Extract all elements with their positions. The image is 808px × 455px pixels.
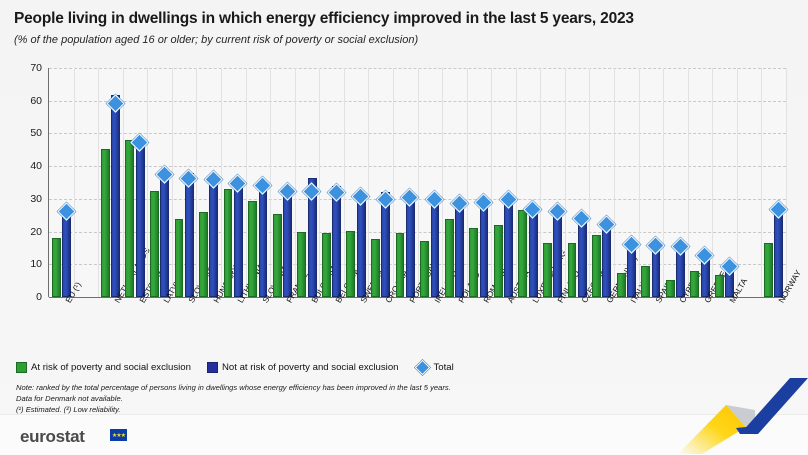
bar-not-at-risk[interactable] xyxy=(136,145,145,297)
total-marker-icon[interactable] xyxy=(376,190,394,208)
total-marker-icon[interactable] xyxy=(327,183,345,201)
bar-at-risk[interactable] xyxy=(224,189,233,297)
total-marker-icon[interactable] xyxy=(155,166,173,184)
bar-not-at-risk[interactable] xyxy=(774,206,783,297)
bar-at-risk[interactable] xyxy=(641,266,650,297)
bar-at-risk[interactable] xyxy=(764,243,773,297)
eu-flag-icon: ★★★ xyxy=(110,429,127,441)
bar-not-at-risk[interactable] xyxy=(480,201,489,298)
legend-label-not-at-risk: Not at risk of poverty and social exclus… xyxy=(222,362,399,373)
chart-page: People living in dwellings in which ener… xyxy=(0,0,808,454)
total-marker-icon[interactable] xyxy=(622,236,640,254)
eurostat-logo: eurostat xyxy=(20,427,85,447)
legend-label-total: Total xyxy=(434,362,454,373)
bar-group[interactable] xyxy=(368,68,393,297)
bar-group[interactable] xyxy=(221,68,246,297)
category-separator xyxy=(786,68,787,297)
note-line-1: Note: ranked by the total percentage of … xyxy=(16,383,451,394)
bar-not-at-risk[interactable] xyxy=(578,219,587,298)
y-tick-label-0: 0 xyxy=(36,291,42,303)
total-marker-icon[interactable] xyxy=(278,182,296,200)
bar-at-risk[interactable] xyxy=(248,201,257,297)
bar-at-risk[interactable] xyxy=(568,243,577,297)
page-subtitle: (% of the population aged 16 or older; b… xyxy=(14,34,418,46)
bar-at-risk[interactable] xyxy=(371,239,380,297)
bar-not-at-risk[interactable] xyxy=(504,196,513,297)
total-marker-icon[interactable] xyxy=(401,189,419,207)
bar-group[interactable] xyxy=(49,68,74,297)
total-marker-icon[interactable] xyxy=(425,190,443,208)
bar-group[interactable] xyxy=(761,68,786,297)
total-marker-icon[interactable] xyxy=(253,176,271,194)
bar-not-at-risk[interactable] xyxy=(406,196,415,297)
bar-group[interactable] xyxy=(614,68,639,297)
bar-at-risk[interactable] xyxy=(297,232,306,297)
bar-not-at-risk[interactable] xyxy=(259,184,268,297)
legend-label-at-risk: At risk of poverty and social exclusion xyxy=(31,362,191,373)
bar-group[interactable] xyxy=(98,68,123,297)
total-marker-icon[interactable] xyxy=(450,194,468,212)
bar-group[interactable] xyxy=(393,68,418,297)
total-marker-icon[interactable] xyxy=(106,94,124,112)
bar-not-at-risk[interactable] xyxy=(602,224,611,297)
bar-at-risk[interactable] xyxy=(150,191,159,297)
legend-swatch-green xyxy=(16,362,27,373)
bar-group[interactable] xyxy=(172,68,197,297)
total-marker-icon[interactable] xyxy=(474,194,492,212)
total-marker-icon[interactable] xyxy=(352,187,370,205)
bar-not-at-risk[interactable] xyxy=(529,211,538,297)
bar-group[interactable] xyxy=(540,68,565,297)
bar-not-at-risk[interactable] xyxy=(209,175,218,297)
bar-group[interactable] xyxy=(467,68,492,297)
bar-at-risk[interactable] xyxy=(445,219,454,298)
total-marker-icon[interactable] xyxy=(499,191,517,209)
bar-group[interactable] xyxy=(295,68,320,297)
category-separator xyxy=(74,68,75,297)
bar-group[interactable] xyxy=(712,68,737,297)
bar-group[interactable] xyxy=(319,68,344,297)
chart-plot-area: EU (¹)NETHERLANDSESTONIALATVIASLOVAKIAHU… xyxy=(48,68,786,297)
total-marker-icon[interactable] xyxy=(671,238,689,256)
bar-not-at-risk[interactable] xyxy=(234,183,243,298)
bar-not-at-risk[interactable] xyxy=(455,201,464,298)
total-marker-icon[interactable] xyxy=(646,237,664,255)
total-marker-icon[interactable] xyxy=(302,182,320,200)
eu-flag-stars: ★★★ xyxy=(110,429,127,441)
bar-at-risk[interactable] xyxy=(273,214,282,297)
bar-group[interactable] xyxy=(639,68,664,297)
bar-at-risk[interactable] xyxy=(592,235,601,297)
total-marker-icon[interactable] xyxy=(696,246,714,264)
total-marker-icon[interactable] xyxy=(548,203,566,221)
bar-at-risk[interactable] xyxy=(101,149,110,297)
y-tick-label-10: 10 xyxy=(30,258,42,270)
bar-group[interactable] xyxy=(123,68,148,297)
total-marker-icon[interactable] xyxy=(720,257,738,275)
bar-group[interactable] xyxy=(663,68,688,297)
bar-at-risk[interactable] xyxy=(690,271,699,297)
bar-group[interactable] xyxy=(516,68,541,297)
bar-at-risk[interactable] xyxy=(52,238,61,297)
y-axis-labels: 010203040506070 xyxy=(10,68,42,297)
chart-notes: Note: ranked by the total percentage of … xyxy=(16,383,451,415)
bar-at-risk[interactable] xyxy=(518,210,527,297)
note-line-2: Data for Denmark not available. xyxy=(16,394,451,405)
total-marker-icon[interactable] xyxy=(180,170,198,188)
bar-at-risk[interactable] xyxy=(175,219,184,298)
bar-group[interactable] xyxy=(344,68,369,297)
bar-not-at-risk[interactable] xyxy=(185,173,194,297)
bar-group[interactable] xyxy=(442,68,467,297)
bar-at-risk[interactable] xyxy=(715,275,724,297)
bar-group[interactable] xyxy=(246,68,271,297)
total-marker-icon[interactable] xyxy=(57,202,75,220)
bar-group[interactable] xyxy=(688,68,713,297)
bar-group[interactable] xyxy=(589,68,614,297)
bar-at-risk[interactable] xyxy=(494,225,503,297)
bar-at-risk[interactable] xyxy=(420,241,429,297)
y-tick-label-60: 60 xyxy=(30,95,42,107)
bar-at-risk[interactable] xyxy=(469,228,478,297)
bar-not-at-risk[interactable] xyxy=(332,186,341,297)
bar-not-at-risk[interactable] xyxy=(553,211,562,297)
legend-swatch-blue xyxy=(207,362,218,373)
total-marker-icon[interactable] xyxy=(204,171,222,189)
bar-group[interactable] xyxy=(147,68,172,297)
total-marker-icon[interactable] xyxy=(769,200,787,218)
legend-item-total[interactable]: Total xyxy=(415,362,454,373)
y-tick-label-20: 20 xyxy=(30,226,42,238)
bar-not-at-risk[interactable] xyxy=(111,95,120,297)
total-marker-icon[interactable] xyxy=(573,209,591,227)
decorative-chevron-graphic xyxy=(600,372,808,454)
chart-legend: At risk of poverty and social exclusion … xyxy=(16,362,463,373)
bar-at-risk[interactable] xyxy=(199,212,208,297)
legend-item-not-at-risk[interactable]: Not at risk of poverty and social exclus… xyxy=(207,362,399,373)
y-tick-label-30: 30 xyxy=(30,193,42,205)
bar-group[interactable] xyxy=(270,68,295,297)
y-tick-label-50: 50 xyxy=(30,127,42,139)
total-marker-icon[interactable] xyxy=(597,215,615,233)
bar-group[interactable] xyxy=(418,68,443,297)
bar-at-risk[interactable] xyxy=(617,273,626,297)
bar-at-risk[interactable] xyxy=(543,243,552,297)
bar-not-at-risk[interactable] xyxy=(431,196,440,297)
y-tick-label-70: 70 xyxy=(30,62,42,74)
category-separator xyxy=(737,68,738,297)
bar-group[interactable] xyxy=(565,68,590,297)
bar-at-risk[interactable] xyxy=(322,233,331,297)
bar-at-risk[interactable] xyxy=(125,140,134,297)
bar-not-at-risk[interactable] xyxy=(160,171,169,297)
bar-at-risk[interactable] xyxy=(396,233,405,297)
bar-at-risk[interactable] xyxy=(666,280,675,297)
legend-swatch-diamond-icon xyxy=(414,360,430,376)
bar-not-at-risk[interactable] xyxy=(283,189,292,297)
bar-group[interactable] xyxy=(196,68,221,297)
legend-item-at-risk[interactable]: At risk of poverty and social exclusion xyxy=(16,362,191,373)
page-title: People living in dwellings in which ener… xyxy=(14,10,634,28)
y-tick-label-40: 40 xyxy=(30,160,42,172)
bar-at-risk[interactable] xyxy=(346,231,355,297)
bar-group[interactable] xyxy=(491,68,516,297)
bar-not-at-risk[interactable] xyxy=(357,194,366,297)
